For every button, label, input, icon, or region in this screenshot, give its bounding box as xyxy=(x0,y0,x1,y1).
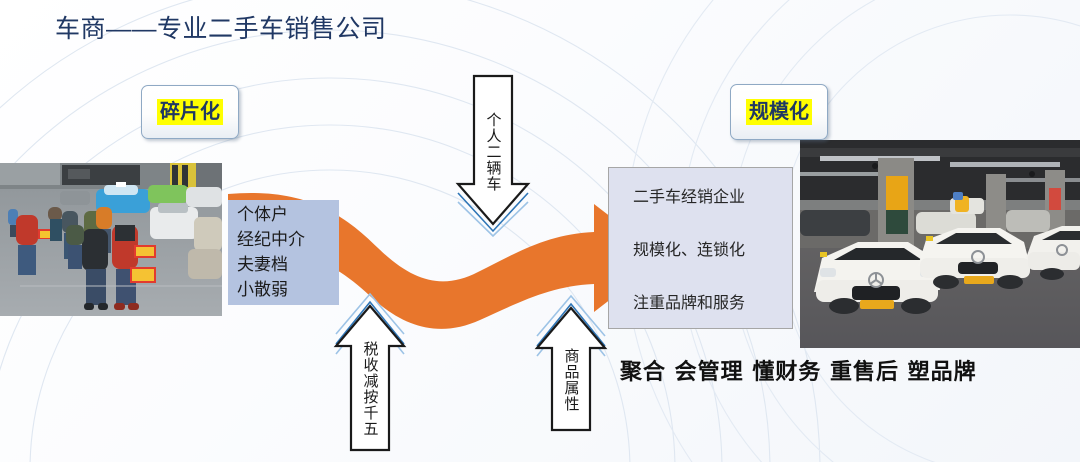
bottom-caption: 聚合 会管理 懂财务 重售后 塑品牌 xyxy=(620,354,977,386)
arrow-tax-reduction: 税收减按千五 xyxy=(332,288,408,454)
arrow-attribute-label: 商品属性 xyxy=(533,330,609,430)
left-box-line: 个体户 xyxy=(237,203,339,228)
arrow-personal-two-cars: 个人二辆车 xyxy=(452,72,534,237)
right-box-line: 二手车经销企业 xyxy=(609,183,792,207)
left-box-line: 经纪中介 xyxy=(237,228,339,253)
page-title: 车商——专业二手车销售公司 xyxy=(55,12,387,46)
badge-scale: 规模化 xyxy=(730,84,828,140)
badge-scale-label: 规模化 xyxy=(746,99,812,125)
badge-fragmentation-label: 碎片化 xyxy=(157,99,223,125)
fragmented-sellers-box: 个体户 经纪中介 夫妻档 小散弱 xyxy=(228,200,339,305)
right-box-line: 规模化、连锁化 xyxy=(609,236,792,260)
scaled-dealers-box: 二手车经销企业 规模化、连锁化 注重品牌和服务 xyxy=(608,167,793,329)
left-box-line: 小散弱 xyxy=(237,278,339,303)
right-box-line: 注重品牌和服务 xyxy=(609,289,792,313)
arrow-tax-label: 税收减按千五 xyxy=(332,328,408,450)
left-box-line: 夫妻档 xyxy=(237,253,339,278)
arrow-down-label: 个人二辆车 xyxy=(452,92,534,212)
slide-canvas: 车商——专业二手车销售公司 xyxy=(0,0,1080,462)
photo-car-showroom xyxy=(800,140,1080,348)
badge-fragmentation: 碎片化 xyxy=(141,85,239,139)
arrow-commodity-attribute: 商品属性 xyxy=(533,288,609,434)
photo-street-market xyxy=(0,163,222,316)
